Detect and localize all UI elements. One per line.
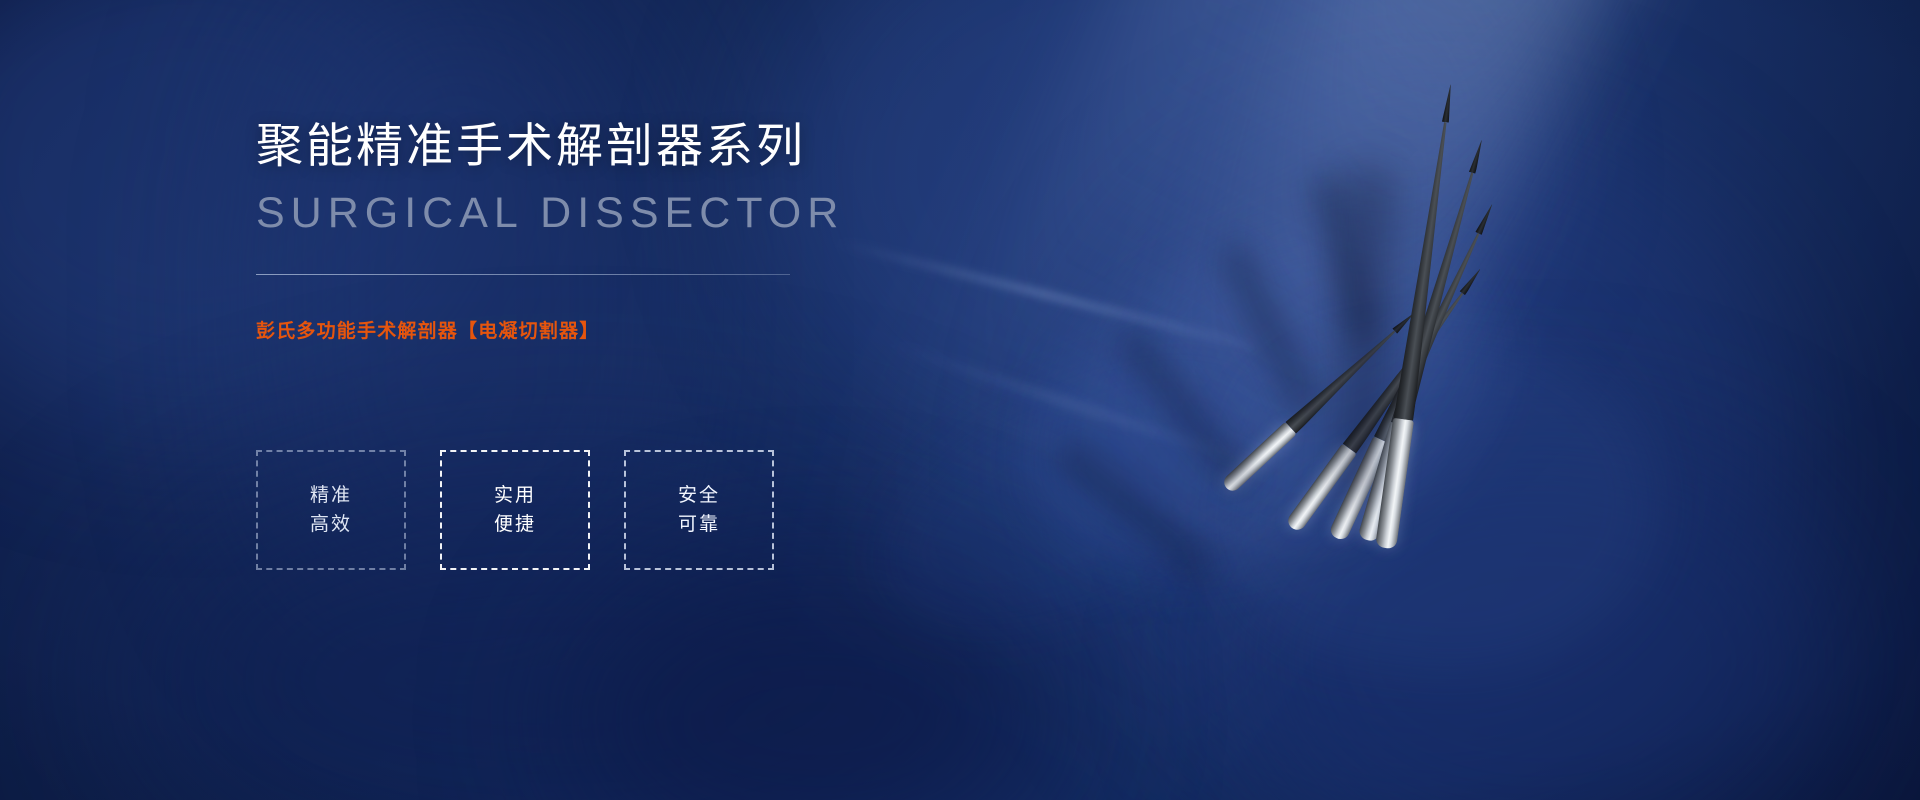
instrument-grip (1357, 422, 1409, 543)
instrument-tip (1475, 203, 1495, 235)
instrument-tip (1442, 84, 1454, 123)
banner-title-en: SURGICAL DISSECTOR (256, 190, 1016, 237)
blurred-hand-silhouette (1208, 302, 1681, 699)
feature-box-group: 精准 高效 实用 便捷 安全 可靠 (256, 450, 774, 570)
instrument-grip (1221, 422, 1297, 494)
instrument-shadow (1119, 329, 1252, 491)
instrument-tip (1469, 139, 1485, 174)
instrument-tip (1392, 311, 1416, 334)
feature-line-2: 可靠 (678, 510, 720, 539)
instrument-shaft (1343, 288, 1470, 453)
feature-box-safety[interactable]: 安全 可靠 (624, 450, 774, 570)
instrument-5 (1375, 83, 1461, 549)
light-beam-secondary (983, 0, 1627, 800)
feature-line-2: 便捷 (494, 510, 536, 539)
instrument-shaft (1394, 121, 1456, 421)
feature-line-1: 实用 (494, 481, 536, 510)
banner-subtitle-cn: 彭氏多功能手术解剖器【电凝切割器】 (256, 316, 1016, 343)
instrument-grip (1375, 418, 1414, 550)
blurred-hand-silhouette (988, 190, 1532, 611)
banner-title-cn: 聚能精准手术解剖器系列 (256, 118, 1016, 174)
background-blob-d (1080, 120, 1800, 800)
feature-line-2: 高效 (310, 510, 352, 539)
instrument-shaft (1391, 170, 1481, 427)
feature-line-1: 精准 (310, 481, 352, 510)
background-blob-g (560, 560, 1080, 800)
instrument-shaft (1374, 230, 1487, 444)
instrument-1 (1221, 307, 1420, 494)
instrument-2 (1285, 264, 1488, 533)
product-banner: 聚能精准手术解剖器系列 SURGICAL DISSECTOR 彭氏多功能手术解剖… (0, 0, 1920, 800)
instrument-grip (1328, 436, 1391, 542)
title-divider (256, 274, 790, 275)
instrument-shadow (1222, 245, 1319, 416)
background-blob-f (1230, 430, 1850, 800)
blurred-hand-silhouette (845, 314, 1314, 677)
instrument-shaft (1285, 325, 1400, 434)
instrument-grip (1285, 443, 1357, 533)
instrument-4 (1357, 137, 1491, 542)
feature-box-precision[interactable]: 精准 高效 (256, 450, 406, 570)
instrument-shadow (1342, 170, 1387, 501)
instrument-3 (1328, 200, 1501, 542)
instrument-shadow (1056, 441, 1214, 578)
instrument-shadow (1315, 175, 1376, 345)
feature-box-practical[interactable]: 实用 便捷 (440, 450, 590, 570)
banner-copy: 聚能精准手术解剖器系列 SURGICAL DISSECTOR 彭氏多功能手术解剖… (256, 118, 1016, 343)
feature-line-1: 安全 (678, 481, 720, 510)
blurred-forceps-silhouette (888, 341, 1252, 465)
instrument-tip (1460, 267, 1483, 295)
